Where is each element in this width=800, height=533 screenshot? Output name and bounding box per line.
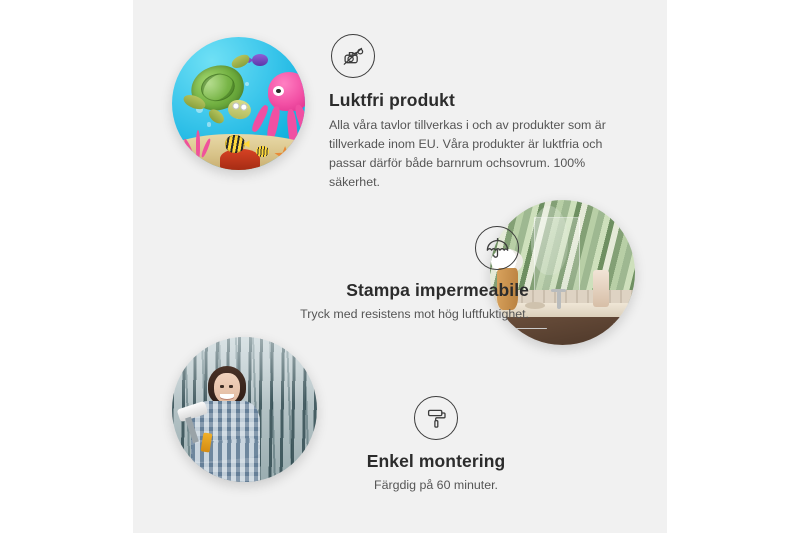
feature-waterproof-print: Stampa impermeabile Tryck med resistens …	[193, 226, 529, 324]
feature-description: Tryck med resistens mot hög luftfuktighe…	[193, 305, 529, 324]
umbrella-icon	[475, 226, 519, 270]
no-odor-spray-bottle-icon	[331, 34, 375, 78]
feature-title: Enkel montering	[321, 451, 551, 472]
feature-title: Stampa impermeabile	[193, 280, 529, 301]
woman-face	[214, 373, 240, 403]
coral-plant	[180, 121, 217, 161]
paint-roller-icon	[414, 396, 458, 440]
coral-branch	[200, 138, 211, 158]
feature-odor-free: Luktfri produkt Alla våra tavlor tillver…	[329, 34, 629, 191]
photo-woman-paint-roller-forest	[172, 337, 317, 482]
product-feature-panel: Luktfri produkt Alla våra tavlor tillver…	[133, 0, 667, 533]
photo-ocean-kids-mural	[172, 37, 305, 170]
feature-description: Färgdig på 60 minuter.	[321, 476, 551, 495]
bathroom-mirror	[534, 217, 580, 295]
small-striped-fish-icon	[256, 146, 269, 157]
screenshot-root: Luktfri produkt Alla våra tavlor tillver…	[0, 0, 800, 533]
yellow-striped-fish-icon	[225, 135, 245, 152]
feature-description: Alla våra tavlor tillverkas i och av pro…	[329, 116, 625, 191]
purple-fish-icon	[252, 54, 268, 66]
decor-jar	[593, 270, 609, 308]
coral-branch	[196, 130, 201, 161]
feature-easy-mounting: Enkel montering Färgdig på 60 minuter.	[321, 396, 551, 495]
faucet-icon	[557, 291, 561, 308]
octopus-eye	[273, 86, 284, 96]
feature-title: Luktfri produkt	[329, 90, 629, 111]
